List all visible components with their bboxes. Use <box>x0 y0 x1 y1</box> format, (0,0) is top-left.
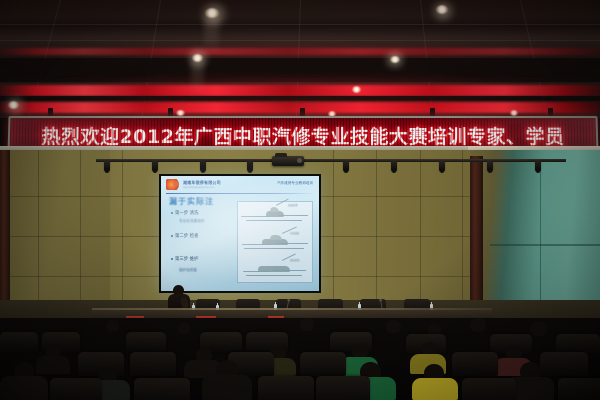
audience-seat <box>558 378 600 400</box>
track-light-fixture <box>104 160 110 171</box>
projection-screen: 湖南车银停有限公司 www.chinaautoservice.com 汽车维修专… <box>159 174 321 293</box>
audience-seat <box>462 378 516 400</box>
audience-shoulders <box>202 375 252 400</box>
audience-head <box>386 320 401 333</box>
ceiling-spotlight <box>390 56 400 63</box>
track-light-fixture <box>535 160 541 171</box>
ceiling-projector <box>272 156 304 166</box>
audience-head <box>106 320 119 332</box>
audience-shoulders <box>412 378 458 400</box>
audience-shoulders <box>0 376 48 400</box>
track-light-fixture <box>343 160 349 171</box>
audience-head <box>300 318 314 331</box>
audience-head <box>530 321 547 336</box>
audience-seat <box>0 332 38 352</box>
audience-seat <box>134 378 190 400</box>
ceiling-spotlight <box>436 5 448 14</box>
audience-seat <box>452 352 498 376</box>
slide-title: 漏于实际注 <box>169 196 214 207</box>
audience-head <box>470 318 486 332</box>
auditorium-photo: 热烈欢迎2012年广西中职汽修专业技能大赛培训专家、学员 湖南车银停有限公司 w… <box>0 0 600 400</box>
audience-head <box>178 323 190 334</box>
slide-diagram-panel: 表面处理 中层填补 底层修复 <box>237 201 313 283</box>
audience-seat <box>130 352 176 376</box>
projected-slide: 湖南车银停有限公司 www.chinaautoservice.com 汽车维修专… <box>161 176 319 291</box>
audience-shoulders <box>36 356 70 374</box>
ceiling <box>0 0 600 118</box>
ceiling-spotlight <box>8 101 19 109</box>
company-logo-icon <box>166 179 180 190</box>
audience-seat <box>300 352 346 376</box>
banner-text: 热烈欢迎2012年广西中职汽修专业技能大赛培训专家、学员 <box>41 122 565 149</box>
track-light-fixture <box>247 160 253 171</box>
slide-header-rule <box>166 193 315 194</box>
slide-diagram-item: 中层填补 <box>238 229 312 256</box>
ceiling-spotlight <box>352 86 361 93</box>
audience-seat <box>50 378 102 400</box>
slide-bullet: 第三步 维护 <box>171 256 198 262</box>
audience-seat <box>258 376 314 400</box>
track-light-fixture <box>487 160 493 171</box>
track-light-fixture <box>439 160 445 171</box>
track-light-fixture <box>200 160 206 171</box>
slide-bullet-label: 第一步 清洗 <box>175 211 198 216</box>
slide-bullet-label: 第三步 维护 <box>175 257 198 262</box>
audience-seat <box>316 376 370 400</box>
slide-company-subtitle: www.chinaautoservice.com <box>183 186 214 189</box>
slide-bullet-sub: 专业车况清洗剂 <box>179 219 204 224</box>
audience-seat <box>556 334 600 354</box>
slide-header-right: 汽车维修专业教师培训 <box>277 181 313 186</box>
slide-bullet-label: 第二步 检查 <box>175 234 198 239</box>
slide-header: 湖南车银停有限公司 www.chinaautoservice.com 汽车维修专… <box>166 179 315 192</box>
slide-bullet: 第一步 清洗 <box>171 210 198 216</box>
track-light-fixture <box>391 160 397 171</box>
audience-seat <box>126 332 166 352</box>
slide-diagram-item: 底层修复 <box>238 255 312 282</box>
audience-seating <box>0 318 600 400</box>
ceiling-led-strip-2 <box>0 85 600 96</box>
slide-bullet-sub: 保护及修复 <box>179 268 197 273</box>
slide-bullet: 第二步 检查 <box>171 233 198 239</box>
slide-diagram-item: 表面处理 <box>238 202 312 229</box>
track-light-fixture <box>152 160 158 171</box>
audience-seat <box>540 352 588 376</box>
track-light-rail <box>96 159 566 162</box>
